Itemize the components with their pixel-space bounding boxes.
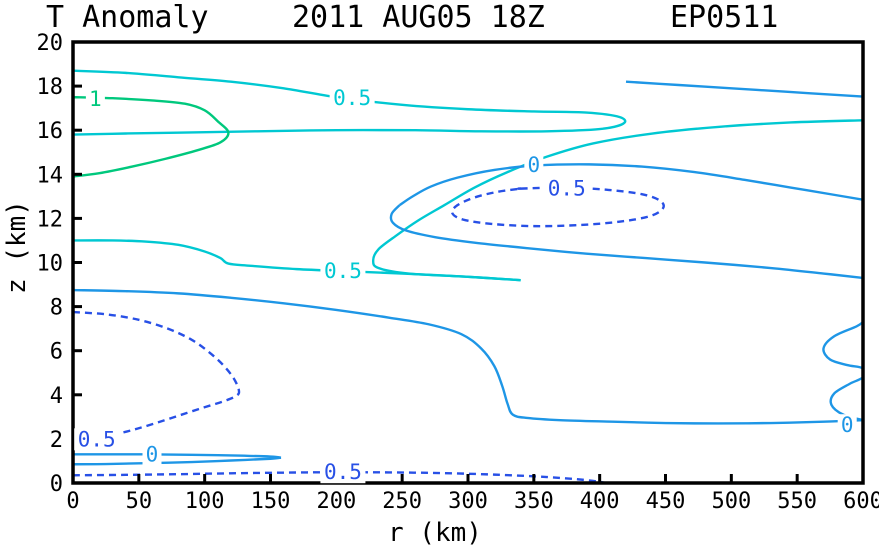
x-tick-label: 600 (843, 489, 879, 514)
y-tick-label: 16 (37, 119, 64, 144)
y-tick-label: 20 (37, 31, 64, 56)
contour-label-5: 0.5 (78, 427, 116, 451)
y-tick-label: 2 (50, 428, 63, 453)
contour-line-mid-0p5-left (73, 240, 521, 280)
y-tick-label: 0 (50, 472, 63, 497)
contour-line-upper-right-0 (626, 82, 879, 117)
axis-tick-labels-group: 0501001502002503003504004505005506000246… (37, 31, 879, 514)
contour-label-0: 1 (89, 87, 102, 111)
x-tick-label: 150 (251, 489, 291, 514)
y-tick-label: 12 (37, 207, 64, 232)
contour-line-boundary-0-lens-bottom (73, 458, 281, 465)
contour-label-3: 0 (528, 153, 541, 177)
x-axis-title: r (km) (388, 518, 482, 548)
y-tick-label: 8 (50, 296, 63, 321)
x-tick-label: 100 (185, 489, 225, 514)
x-tick-label: 0 (66, 489, 79, 514)
contour-lines-group (73, 71, 879, 483)
contour-label-4: 0.5 (548, 177, 586, 201)
contour-plot-page: T Anomaly 2011 AUG05 18Z EP0511 05010015… (0, 0, 879, 558)
contour-line-lower-0-main (73, 290, 863, 423)
y-tick-label: 4 (50, 384, 63, 409)
contour-label-1: 0.5 (333, 86, 371, 110)
contour-plot-canvas: 0501001502002503003504004505005506000246… (0, 0, 879, 558)
contour-line-boundary-0-lens-top (73, 454, 281, 457)
y-tick-label: 10 (37, 252, 64, 277)
contour-line-mid-0-left-branch (391, 205, 863, 278)
x-tick-label: 550 (777, 489, 817, 514)
contour-label-8: 0 (841, 413, 854, 437)
x-tick-label: 50 (126, 489, 153, 514)
y-tick-label: 18 (37, 75, 64, 100)
y-tick-label: 6 (50, 340, 63, 365)
y-axis-title: z (km) (2, 200, 32, 294)
x-tick-label: 400 (580, 489, 620, 514)
x-tick-label: 250 (382, 489, 422, 514)
x-tick-label: 450 (646, 489, 686, 514)
contour-line-lower-left-wedge (73, 312, 239, 441)
y-tick-label: 14 (37, 163, 64, 188)
x-tick-label: 350 (514, 489, 554, 514)
contour-line-right-edge-s-curve (823, 322, 864, 420)
x-tick-label: 500 (711, 489, 751, 514)
contour-label-7: 0.5 (324, 460, 362, 484)
x-tick-label: 200 (316, 489, 356, 514)
contour-label-2: 0.5 (324, 259, 362, 283)
x-tick-label: 300 (448, 489, 488, 514)
contour-label-6: 0 (146, 442, 159, 466)
